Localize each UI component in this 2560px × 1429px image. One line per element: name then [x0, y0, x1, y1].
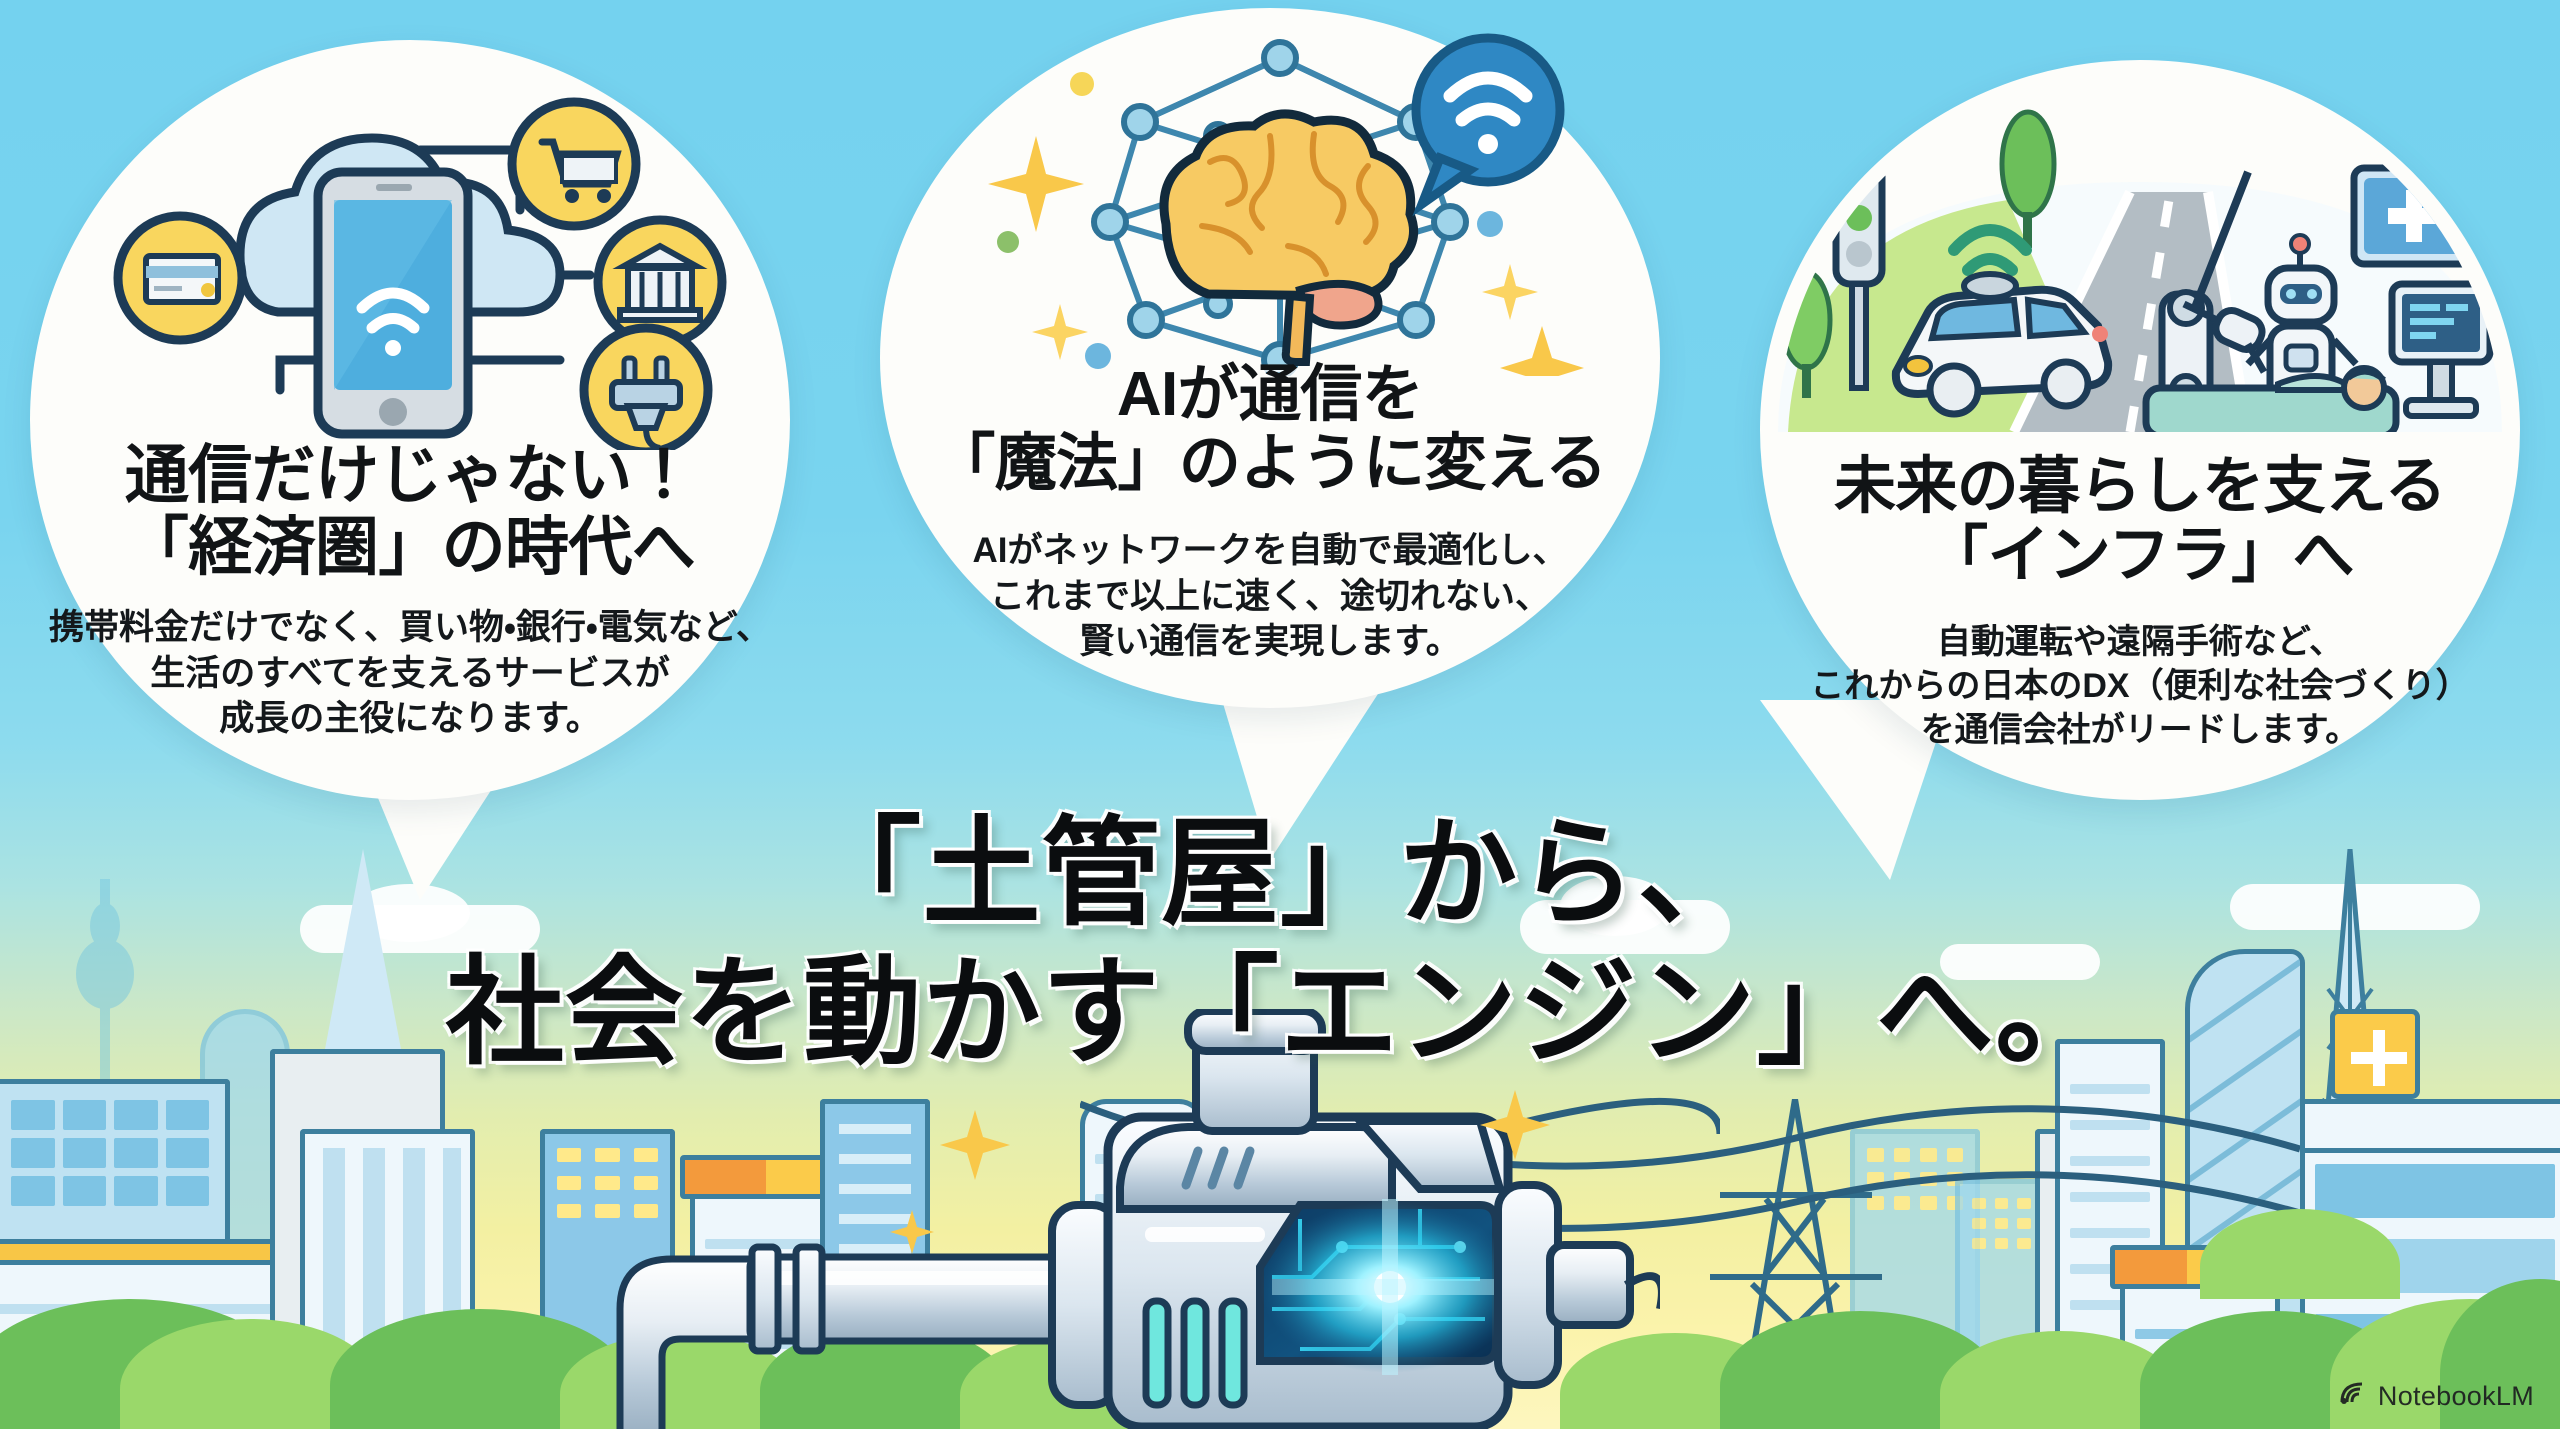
brain-neural-network-illustration: [970, 26, 1590, 376]
bubble-ai-title: AIが通信を 「魔法」のように変える: [880, 360, 1660, 499]
sparkle-icon: [1480, 1090, 1550, 1165]
notebooklm-watermark: NotebookLM: [2338, 1378, 2534, 1415]
bubble-economy-body: 携帯料金だけでなく、買い物・銀行・電気など、 生活のすべてを支えるサービスが 成…: [40, 605, 780, 742]
bubble-economy: 通信だけじゃない！ 「経済圏」の時代へ 携帯料金だけでなく、買い物・銀行・電気な…: [30, 40, 790, 800]
shopping-cart-icon: [512, 102, 636, 226]
notebooklm-label: NotebookLM: [2378, 1381, 2534, 1412]
page-title: 「土管屋」から、 社会を動かす「エンジン」へ。: [0, 805, 2560, 1083]
bubble-ai-body: AIがネットワークを自動で最適化し、 これまで以上に速く、途切れない、 賢い通信…: [920, 528, 1620, 665]
bubble-ai: AIが通信を 「魔法」のように変える AIがネットワークを自動で最適化し、 これ…: [880, 8, 1660, 708]
sparkle-icon: [940, 1110, 1010, 1185]
cloud-smartphone-services-illustration: [90, 60, 730, 450]
bubble-infra-body: 自動運転や遠隔手術など、 これからの日本のDX（便利な社会づくり） を通信会社が…: [1750, 620, 2530, 753]
bubble-infra: 未来の暮らしを支える 「インフラ」へ 自動運転や遠隔手術など、 これからの日本の…: [1760, 60, 2520, 800]
credit-card-icon: [118, 216, 242, 340]
headline-line-1: 「土管屋」から、: [0, 805, 2560, 944]
wifi-bubble-icon: [1416, 38, 1560, 204]
headline-line-2: 社会を動かす「エンジン」へ。: [0, 944, 2560, 1083]
infographic-poster: 通信だけじゃない！ 「経済圏」の時代へ 携帯料金だけでなく、買い物・銀行・電気な…: [0, 0, 2560, 1429]
bubble-economy-title: 通信だけじゃない！ 「経済圏」の時代へ: [30, 440, 790, 583]
sparkle-icon: [890, 1210, 934, 1259]
notebooklm-logo-icon: [2338, 1378, 2368, 1415]
power-plug-icon: [584, 328, 708, 450]
bubble-infra-title: 未来の暮らしを支える 「インフラ」へ: [1760, 452, 2520, 591]
